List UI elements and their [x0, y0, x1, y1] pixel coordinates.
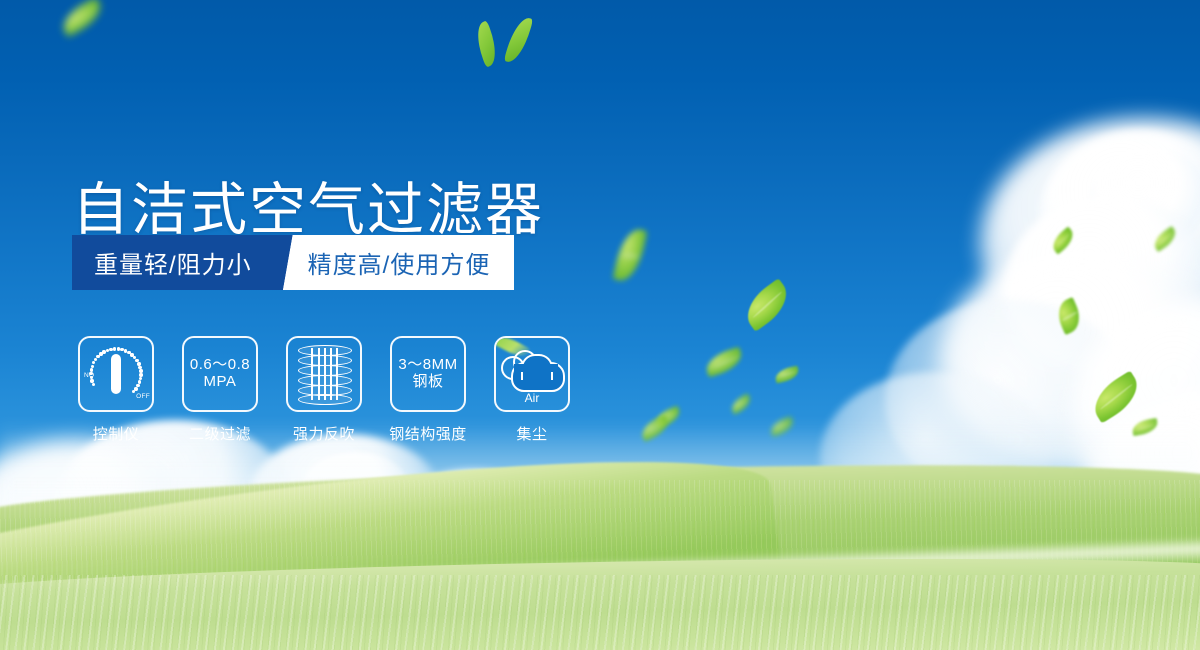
floating-leaf: [1052, 297, 1085, 335]
steel-line-1: 3～8MM: [398, 357, 457, 374]
cloud-puff: [1090, 390, 1200, 570]
cloud-puff: [726, 492, 826, 560]
cloud-puff: [1040, 130, 1200, 300]
subtitle-left: 重量轻/阻力小: [72, 235, 276, 290]
subtitle-divider: [276, 235, 302, 290]
floating-leaf: [769, 416, 796, 436]
feature-item-controller[interactable]: NO OFF 控制仪: [78, 336, 154, 444]
gauge-tick: [91, 365, 94, 368]
air-cloud-icon: Air: [501, 346, 563, 402]
feature-icon-box: 3～8MM 钢板: [390, 336, 466, 412]
feature-label: 集尘: [516, 423, 547, 444]
subtitle-bar: 重量轻/阻力小 精度高/使用方便: [72, 235, 514, 290]
cloud-puff: [820, 372, 1050, 542]
pressure-line-1: 0.6～0.8: [190, 357, 250, 374]
feature-item-steel-strength[interactable]: 3～8MM 钢板 钢结构强度: [390, 336, 466, 444]
feature-icon-box: 0.6～0.8 MPA: [182, 336, 258, 412]
floating-leaf: [1150, 226, 1179, 252]
cloud-puff: [885, 300, 1135, 500]
cloud-puff: [1090, 148, 1200, 248]
feature-item-dust-collection[interactable]: Air 集尘: [494, 336, 570, 444]
feature-label: 强力反吹: [293, 423, 355, 444]
steel-line-2: 钢板: [398, 374, 457, 391]
floating-leaf: [774, 366, 800, 384]
coil-ring: [298, 394, 352, 405]
pressure-text-icon: 0.6～0.8 MPA: [190, 357, 250, 391]
cloud-puff: [1050, 482, 1190, 570]
feature-item-back-blow[interactable]: 强力反吹: [286, 336, 362, 444]
pressure-line-2: MPA: [190, 374, 250, 391]
cloud-puff: [980, 118, 1200, 368]
hero-banner: 自洁式空气过滤器 重量轻/阻力小 精度高/使用方便 NO OFF 控制仪: [0, 0, 1200, 650]
cloud-puff: [1000, 470, 1200, 600]
filter-coil-icon: [298, 345, 350, 403]
feature-label: 钢结构强度: [389, 423, 467, 444]
sprout-leaf-left: [471, 20, 502, 67]
air-label: Air: [501, 391, 563, 405]
feature-icon-box: Air: [494, 336, 570, 412]
page-title: 自洁式空气过滤器: [72, 182, 544, 239]
gauge-tick: [92, 383, 95, 386]
feature-label: 二级过滤: [189, 423, 251, 444]
cloud-puff: [940, 250, 1200, 470]
gauge-tick: [89, 372, 92, 375]
gauge-needle: [111, 354, 121, 394]
gauge-label-off: OFF: [136, 393, 150, 400]
gauge-tick: [132, 390, 135, 393]
sprout-leaf-right: [504, 15, 534, 66]
gauge-tick: [134, 387, 137, 390]
steel-text-icon: 3～8MM 钢板: [398, 357, 457, 391]
feature-icon-box: [286, 336, 362, 412]
feature-label: 控制仪: [93, 423, 140, 444]
cloud-puff: [1005, 196, 1200, 376]
gauge-tick: [94, 358, 97, 361]
floating-leaf: [1131, 418, 1159, 436]
gauge-tick: [90, 379, 93, 382]
cloud-shadow: [820, 470, 1120, 590]
floating-leaf: [1048, 226, 1078, 254]
feature-item-two-stage-filter[interactable]: 0.6～0.8 MPA 二级过滤: [182, 336, 258, 444]
gauge-icon: NO OFF: [86, 345, 146, 403]
cloud-puff: [690, 482, 840, 582]
floating-leaf: [1086, 371, 1146, 424]
cloud-merge-mask: [514, 364, 558, 372]
cloud-puff: [1070, 300, 1200, 530]
gauge-tick: [90, 376, 93, 379]
feature-icon-box: NO OFF: [78, 336, 154, 412]
gauge-tick: [90, 368, 93, 371]
floating-leaf: [703, 347, 745, 378]
floating-leaf: [738, 278, 796, 332]
gauge-tick: [92, 361, 95, 364]
banner-content: 自洁式空气过滤器 重量轻/阻力小 精度高/使用方便 NO OFF 控制仪: [72, 0, 692, 650]
floating-leaf: [728, 393, 753, 414]
subtitle-right: 精度高/使用方便: [302, 235, 515, 290]
feature-list: NO OFF 控制仪 0.6～0.8 MPA 二级过滤: [78, 336, 570, 444]
gauge-tick: [113, 347, 116, 350]
